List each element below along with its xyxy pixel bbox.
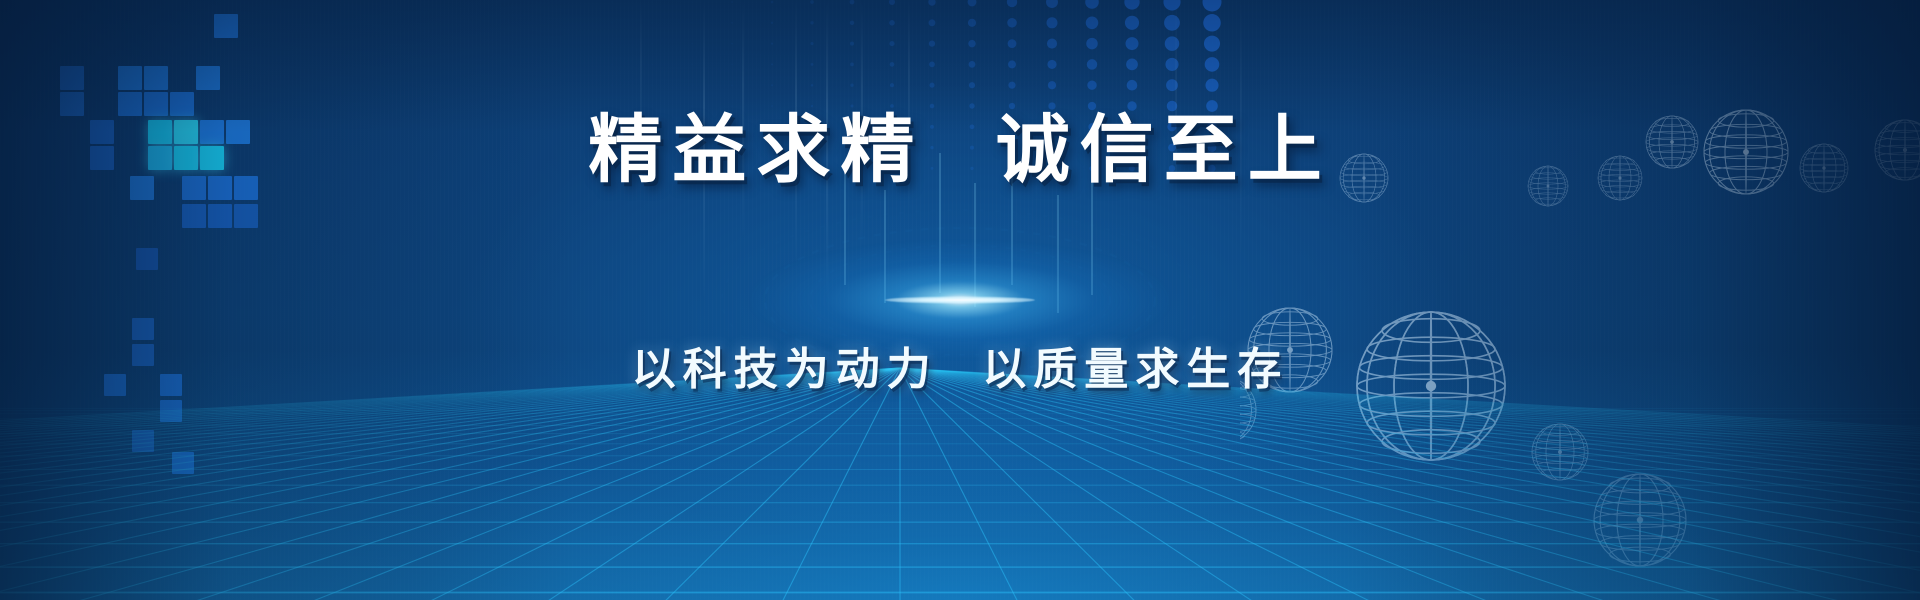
hero-banner: 精益求精 诚信至上 以科技为动力 以质量求生存 (0, 0, 1920, 600)
background-vignette (0, 0, 1920, 600)
page-subtitle: 以科技为动力 以质量求生存 (0, 340, 1920, 400)
page-title: 精益求精 诚信至上 (0, 104, 1920, 196)
